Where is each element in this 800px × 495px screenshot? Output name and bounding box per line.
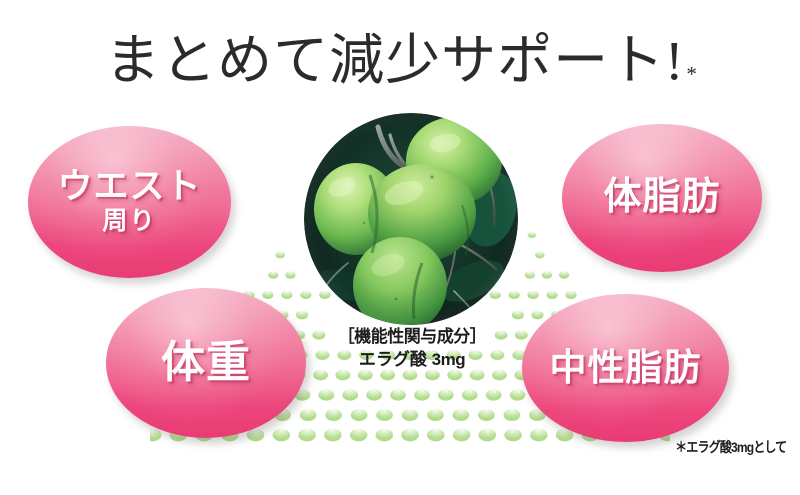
bubble-body-fat-label: 体脂肪 bbox=[603, 178, 720, 218]
headline: まとめて減少サポート!* bbox=[0, 30, 800, 103]
promo-banner: まとめて減少サポート!* ウエスト 周り 体脂肪 体重 中性脂肪 ［機能性関与成… bbox=[0, 0, 800, 495]
headline-text: まとめて減少サポート! bbox=[105, 30, 684, 91]
bubble-waist: ウエスト 周り bbox=[28, 126, 231, 278]
footnote: ＊エラグ酸3mgとして bbox=[675, 437, 786, 457]
caption-ingredient-line: エラグ酸 3mg bbox=[280, 348, 544, 371]
bubble-triglyceride: 中性脂肪 bbox=[522, 294, 729, 442]
ingredient-caption: ［機能性関与成分］ エラグ酸 3mg bbox=[280, 326, 544, 371]
caption-ingredient-dose: 3mg bbox=[432, 350, 465, 369]
bubble-waist-label-main: ウエスト bbox=[57, 167, 201, 206]
bubble-weight: 体重 bbox=[106, 288, 306, 438]
caption-functional-label: ［機能性関与成分］ bbox=[280, 326, 544, 348]
bubble-triglyceride-label: 中性脂肪 bbox=[550, 349, 702, 388]
bubble-waist-label: ウエスト 周り bbox=[57, 169, 201, 234]
bubble-waist-label-sub: 周り bbox=[57, 208, 201, 234]
headline-footnote-marker: * bbox=[686, 62, 697, 86]
fruit-photo bbox=[304, 113, 518, 325]
caption-ingredient-name: エラグ酸 bbox=[359, 350, 427, 369]
bubble-weight-label: 体重 bbox=[161, 340, 251, 386]
bubble-body-fat: 体脂肪 bbox=[562, 124, 762, 272]
